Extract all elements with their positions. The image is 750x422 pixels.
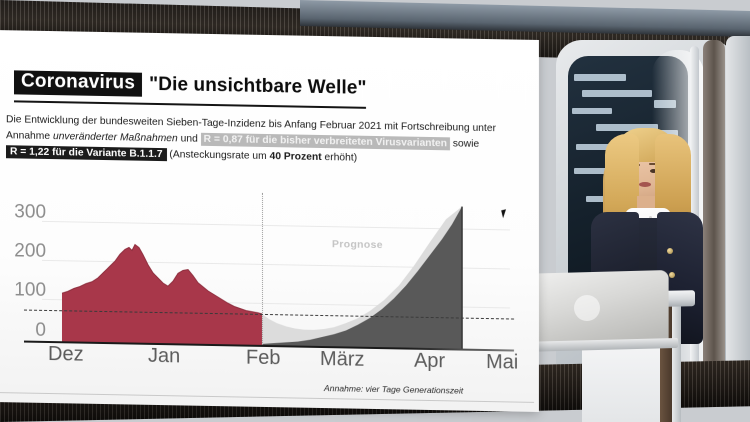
chart-plot-area bbox=[42, 191, 510, 350]
video-wall-bar bbox=[572, 108, 612, 114]
chart-svg bbox=[42, 191, 510, 352]
subtext-percent: 40 Prozent bbox=[270, 151, 322, 163]
wall-wood-trim bbox=[703, 40, 725, 370]
x-tick-jan: Jan bbox=[148, 345, 180, 368]
forecast-divider-line bbox=[262, 193, 263, 345]
series-forecast-b117 bbox=[262, 203, 462, 349]
jacket-button bbox=[669, 272, 675, 278]
laptop-logo-icon bbox=[574, 295, 600, 321]
series-observed-incidence bbox=[62, 243, 262, 345]
subtext-sowie: sowie bbox=[450, 139, 479, 151]
headline-topic-badge: Coronavirus bbox=[14, 70, 142, 96]
incidence-chart: 300 200 100 0 bbox=[2, 190, 522, 380]
subtext-paren-open: (Ansteckungsrate um bbox=[167, 150, 270, 163]
subtext-paren-close: erhöht) bbox=[322, 152, 358, 164]
x-tick-dez: Dez bbox=[48, 343, 84, 366]
tv-broadcast-frame: Coronavirus "Die unsichtbare Welle" Die … bbox=[0, 0, 750, 422]
chart-footnote: Annahme: vier Tage Generationszeit bbox=[324, 383, 463, 396]
x-tick-maerz: März bbox=[320, 348, 364, 371]
video-wall-bar bbox=[582, 90, 652, 97]
prognose-label: Prognose bbox=[332, 238, 383, 251]
headline: Coronavirus "Die unsichtbare Welle" bbox=[14, 70, 367, 100]
video-wall-bar bbox=[574, 74, 626, 81]
desk-rail bbox=[672, 298, 681, 422]
headline-underline bbox=[14, 100, 366, 108]
r-value-old-variants-highlight: R = 0,87 für die bisher verbreiteten Vir… bbox=[201, 133, 450, 151]
r-value-b117-highlight: R = 1,22 für die Variante B.1.1.7 bbox=[6, 146, 167, 162]
wall-outer-trim bbox=[726, 36, 750, 372]
x-tick-feb: Feb bbox=[246, 347, 280, 370]
x-tick-apr: Apr bbox=[414, 350, 445, 373]
jacket-button bbox=[667, 248, 673, 254]
headline-title: "Die unsichtbare Welle" bbox=[149, 74, 366, 100]
subtext-conj: und bbox=[178, 134, 201, 145]
x-tick-mai: Mai bbox=[486, 351, 518, 374]
subheading-paragraph: Die Entwicklung der bundesweiten Sieben-… bbox=[6, 112, 518, 170]
presenter-mouth bbox=[639, 182, 651, 187]
subtext-italic: unveränderter Maßnahmen bbox=[53, 131, 178, 144]
infographic-board: Coronavirus "Die unsichtbare Welle" Die … bbox=[0, 30, 539, 412]
